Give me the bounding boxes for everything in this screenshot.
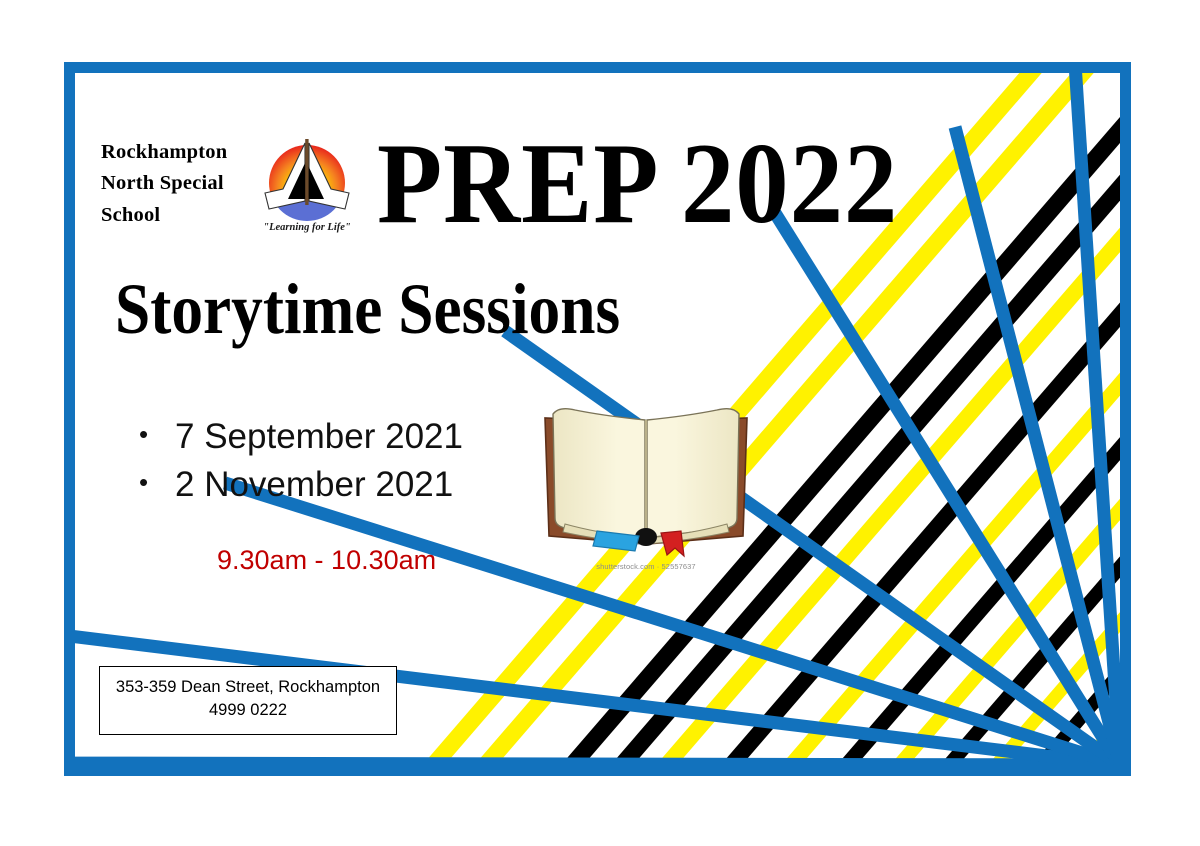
session-date: 7 September 2021: [175, 413, 463, 461]
list-item: • 2 November 2021: [123, 461, 463, 509]
school-logo: "Learning for Life": [255, 131, 359, 237]
bullet-icon: •: [123, 421, 175, 447]
session-time: 9.30am - 10.30am: [217, 545, 436, 576]
svg-text:"Learning for Life": "Learning for Life": [263, 222, 351, 233]
address-phone: 4999 0222: [104, 699, 392, 722]
school-name: Rockhampton North Special School: [101, 137, 251, 230]
page-title: PREP 2022: [377, 133, 898, 235]
open-book-icon: [535, 388, 757, 560]
image-watermark: shutterstock.com · 52557637: [535, 562, 757, 571]
poster-frame: Rockhampton North Special School: [64, 62, 1131, 776]
address-street: 353-359 Dean Street, Rockhampton: [104, 676, 392, 699]
address-box: 353-359 Dean Street, Rockhampton 4999 02…: [99, 666, 397, 735]
poster-canvas: Rockhampton North Special School: [0, 0, 1200, 846]
list-item: • 7 September 2021: [123, 413, 463, 461]
poster-frame-inner: Rockhampton North Special School: [75, 73, 1120, 765]
bullet-icon: •: [123, 469, 175, 495]
session-date-list: • 7 September 2021 • 2 November 2021: [123, 413, 463, 510]
open-book-illustration: shutterstock.com · 52557637: [535, 388, 757, 578]
session-date: 2 November 2021: [175, 461, 453, 509]
poster-header: Rockhampton North Special School: [101, 131, 943, 237]
subtitle: Storytime Sessions: [115, 273, 620, 345]
school-logo-icon: "Learning for Life": [255, 131, 359, 237]
